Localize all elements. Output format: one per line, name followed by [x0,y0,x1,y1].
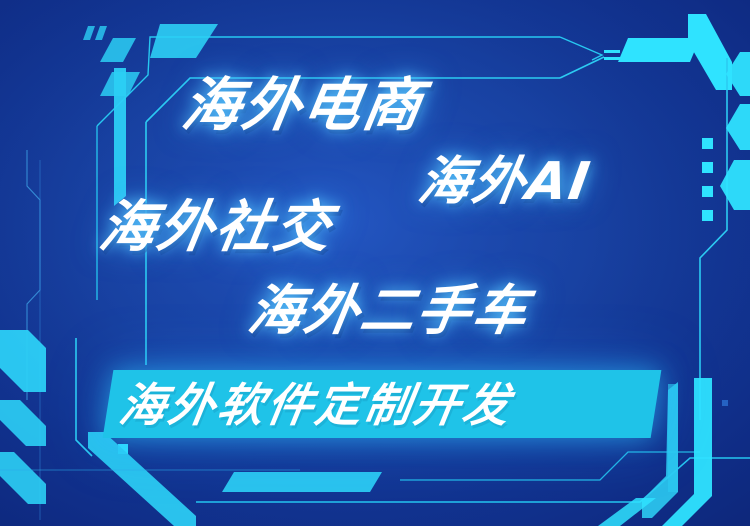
headline-ai: 海外AI [415,156,595,208]
poster-canvas: 海外电商 海外AI 海外社交 海外二手车 海外软件定制开发 [0,0,750,526]
headline-layer: 海外电商 海外AI 海外社交 海外二手车 海外软件定制开发 [0,0,750,526]
headline-ecommerce: 海外电商 [178,76,427,134]
headline-used-car: 海外二手车 [245,284,534,338]
banner-label: 海外软件定制开发 [116,379,654,431]
headline-social: 海外社交 [96,200,337,256]
